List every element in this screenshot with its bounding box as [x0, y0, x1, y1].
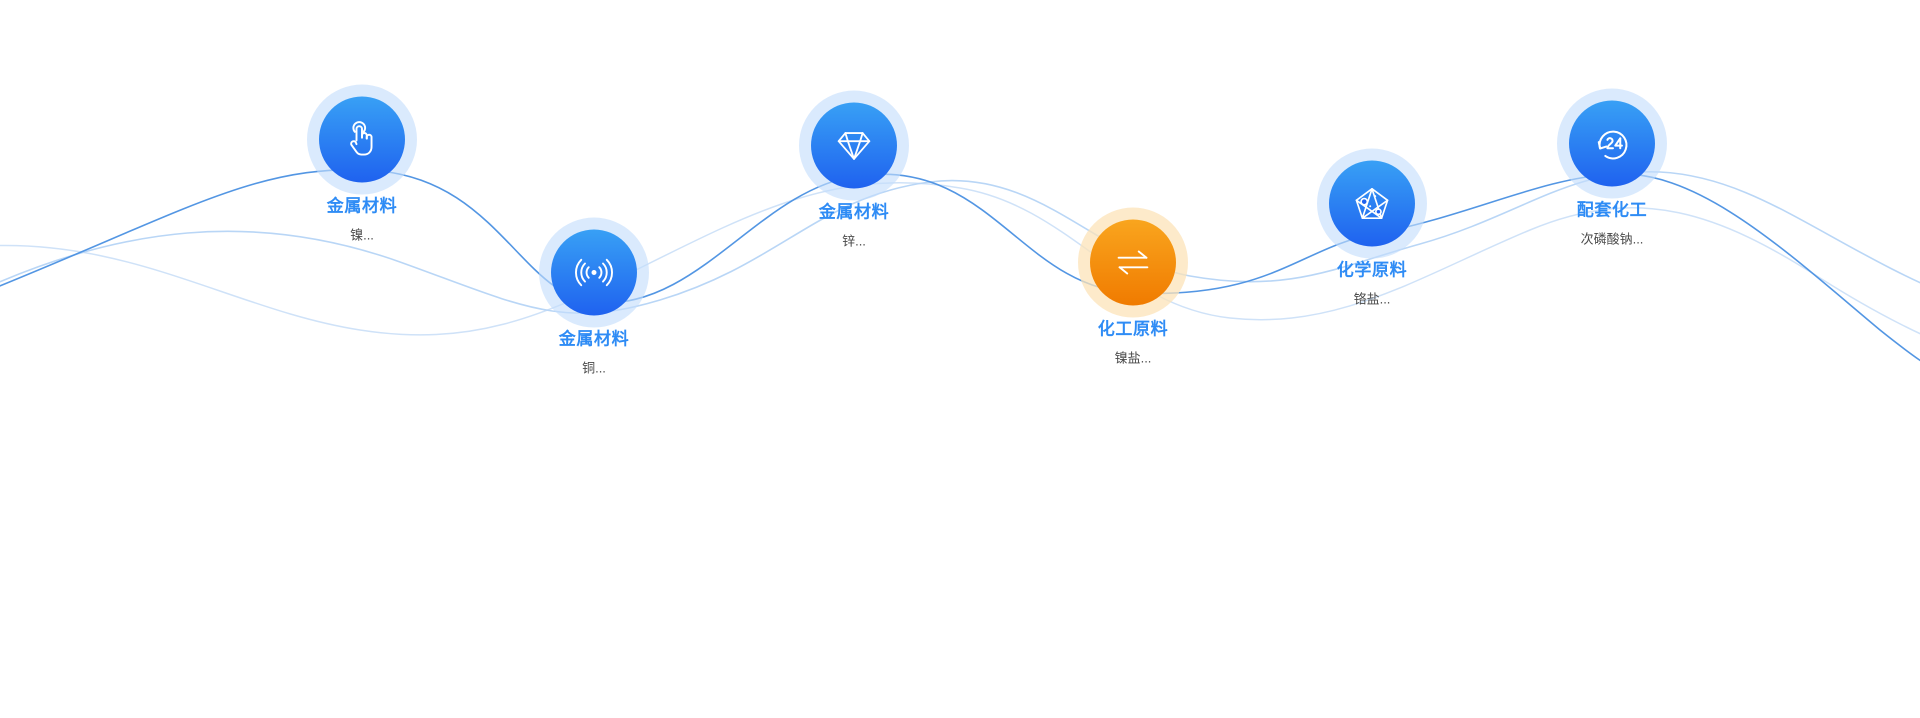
node-1[interactable]: 金属材料 镍...: [242, 97, 482, 244]
pentagon-molecule-icon: [1350, 182, 1394, 226]
node-6-subtitle: 次磷酸钠...: [1581, 232, 1644, 248]
twentyfour-hour-icon: [1589, 121, 1635, 167]
node-6-bubble-wrap[interactable]: [1569, 101, 1655, 187]
node-3-bubble-wrap[interactable]: [811, 103, 897, 189]
node-4-subtitle: 镍盐...: [1115, 351, 1152, 367]
node-6[interactable]: 配套化工 次磷酸钠...: [1492, 101, 1732, 248]
node-1-bubble-wrap[interactable]: [319, 97, 405, 183]
node-1-title: 金属材料: [327, 197, 397, 217]
node-2-bubble-wrap[interactable]: [551, 230, 637, 316]
node-5-bubble-wrap[interactable]: [1329, 161, 1415, 247]
node-4-bubble[interactable]: [1090, 220, 1176, 306]
node-3[interactable]: 金属材料 锌...: [734, 103, 974, 250]
node-5-subtitle: 铬盐...: [1354, 292, 1391, 308]
node-4[interactable]: 化工原料 镍盐...: [1013, 220, 1253, 367]
hand-click-icon: [340, 118, 384, 162]
radar-signal-icon: [571, 250, 617, 296]
node-1-bubble[interactable]: [319, 97, 405, 183]
node-2-bubble[interactable]: [551, 230, 637, 316]
node-5-title: 化学原料: [1337, 261, 1407, 281]
node-3-bubble[interactable]: [811, 103, 897, 189]
equilibrium-arrows-icon: [1110, 240, 1156, 286]
node-6-title: 配套化工: [1577, 201, 1647, 221]
node-2-title: 金属材料: [559, 330, 629, 350]
node-3-subtitle: 锌...: [842, 234, 866, 250]
node-2-subtitle: 铜...: [582, 361, 606, 377]
node-3-title: 金属材料: [819, 203, 889, 223]
supply-chain-flow-diagram: 金属材料 镍... 金属材料 铜: [0, 0, 1920, 718]
node-5[interactable]: 化学原料 铬盐...: [1252, 161, 1492, 308]
node-4-title: 化工原料: [1098, 320, 1168, 340]
diamond-icon: [831, 123, 877, 169]
node-2[interactable]: 金属材料 铜...: [474, 230, 714, 377]
node-5-bubble[interactable]: [1329, 161, 1415, 247]
node-4-bubble-wrap[interactable]: [1090, 220, 1176, 306]
node-6-bubble[interactable]: [1569, 101, 1655, 187]
node-1-subtitle: 镍...: [350, 228, 374, 244]
